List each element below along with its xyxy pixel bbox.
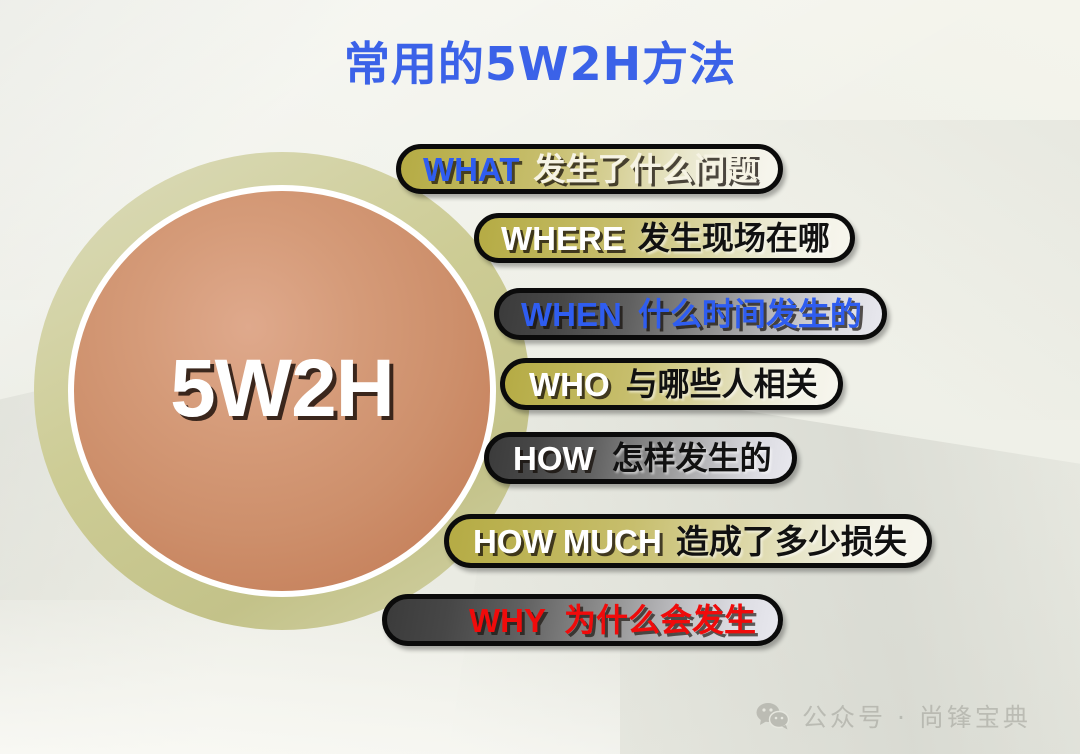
- item-en-label: HOW: [513, 442, 594, 475]
- page-title: 常用的5W2H方法: [0, 28, 1080, 94]
- item-cn-label: 发生现场在哪: [638, 222, 830, 254]
- item-pill-how-much[interactable]: HOW MUCH 造成了多少损失: [444, 514, 932, 568]
- item-cn-label: 怎样发生的: [612, 442, 772, 474]
- watermark-text: 公众号 · 尚锋宝典: [802, 698, 1031, 734]
- item-cn-label: 造成了多少损失: [676, 525, 907, 558]
- item-pill-who[interactable]: WHO 与哪些人相关: [500, 358, 843, 410]
- watermark: 公众号 · 尚锋宝典: [756, 698, 1031, 734]
- item-en-label: HOW MUCH: [473, 525, 662, 558]
- item-pill-where[interactable]: WHERE 发生现场在哪: [474, 213, 855, 263]
- slide-canvas: 常用的5W2H方法 5W2H WHAT 发生了什么问题 WHERE 发生现场在哪…: [0, 0, 1080, 754]
- item-pill-what[interactable]: WHAT 发生了什么问题: [396, 144, 783, 194]
- item-pill-why[interactable]: WHY 为什么会发生: [382, 594, 783, 646]
- circle-label: 5W2H: [74, 342, 490, 436]
- wechat-icon: [756, 702, 790, 730]
- item-cn-label: 什么时间发生的: [638, 298, 862, 330]
- item-en-label: WHY: [469, 604, 546, 637]
- item-en-label: WHEN: [521, 298, 622, 331]
- item-pill-when[interactable]: WHEN 什么时间发生的: [494, 288, 887, 340]
- item-en-label: WHAT: [423, 153, 520, 186]
- item-cn-label: 与哪些人相关: [626, 368, 818, 400]
- item-cn-label: 发生了什么问题: [534, 153, 758, 185]
- item-en-label: WHO: [529, 368, 610, 401]
- item-cn-label: 为什么会发生: [564, 604, 756, 636]
- item-pill-how[interactable]: HOW 怎样发生的: [484, 432, 797, 484]
- item-en-label: WHERE: [501, 222, 624, 255]
- circle-inner-disc: 5W2H: [74, 191, 490, 591]
